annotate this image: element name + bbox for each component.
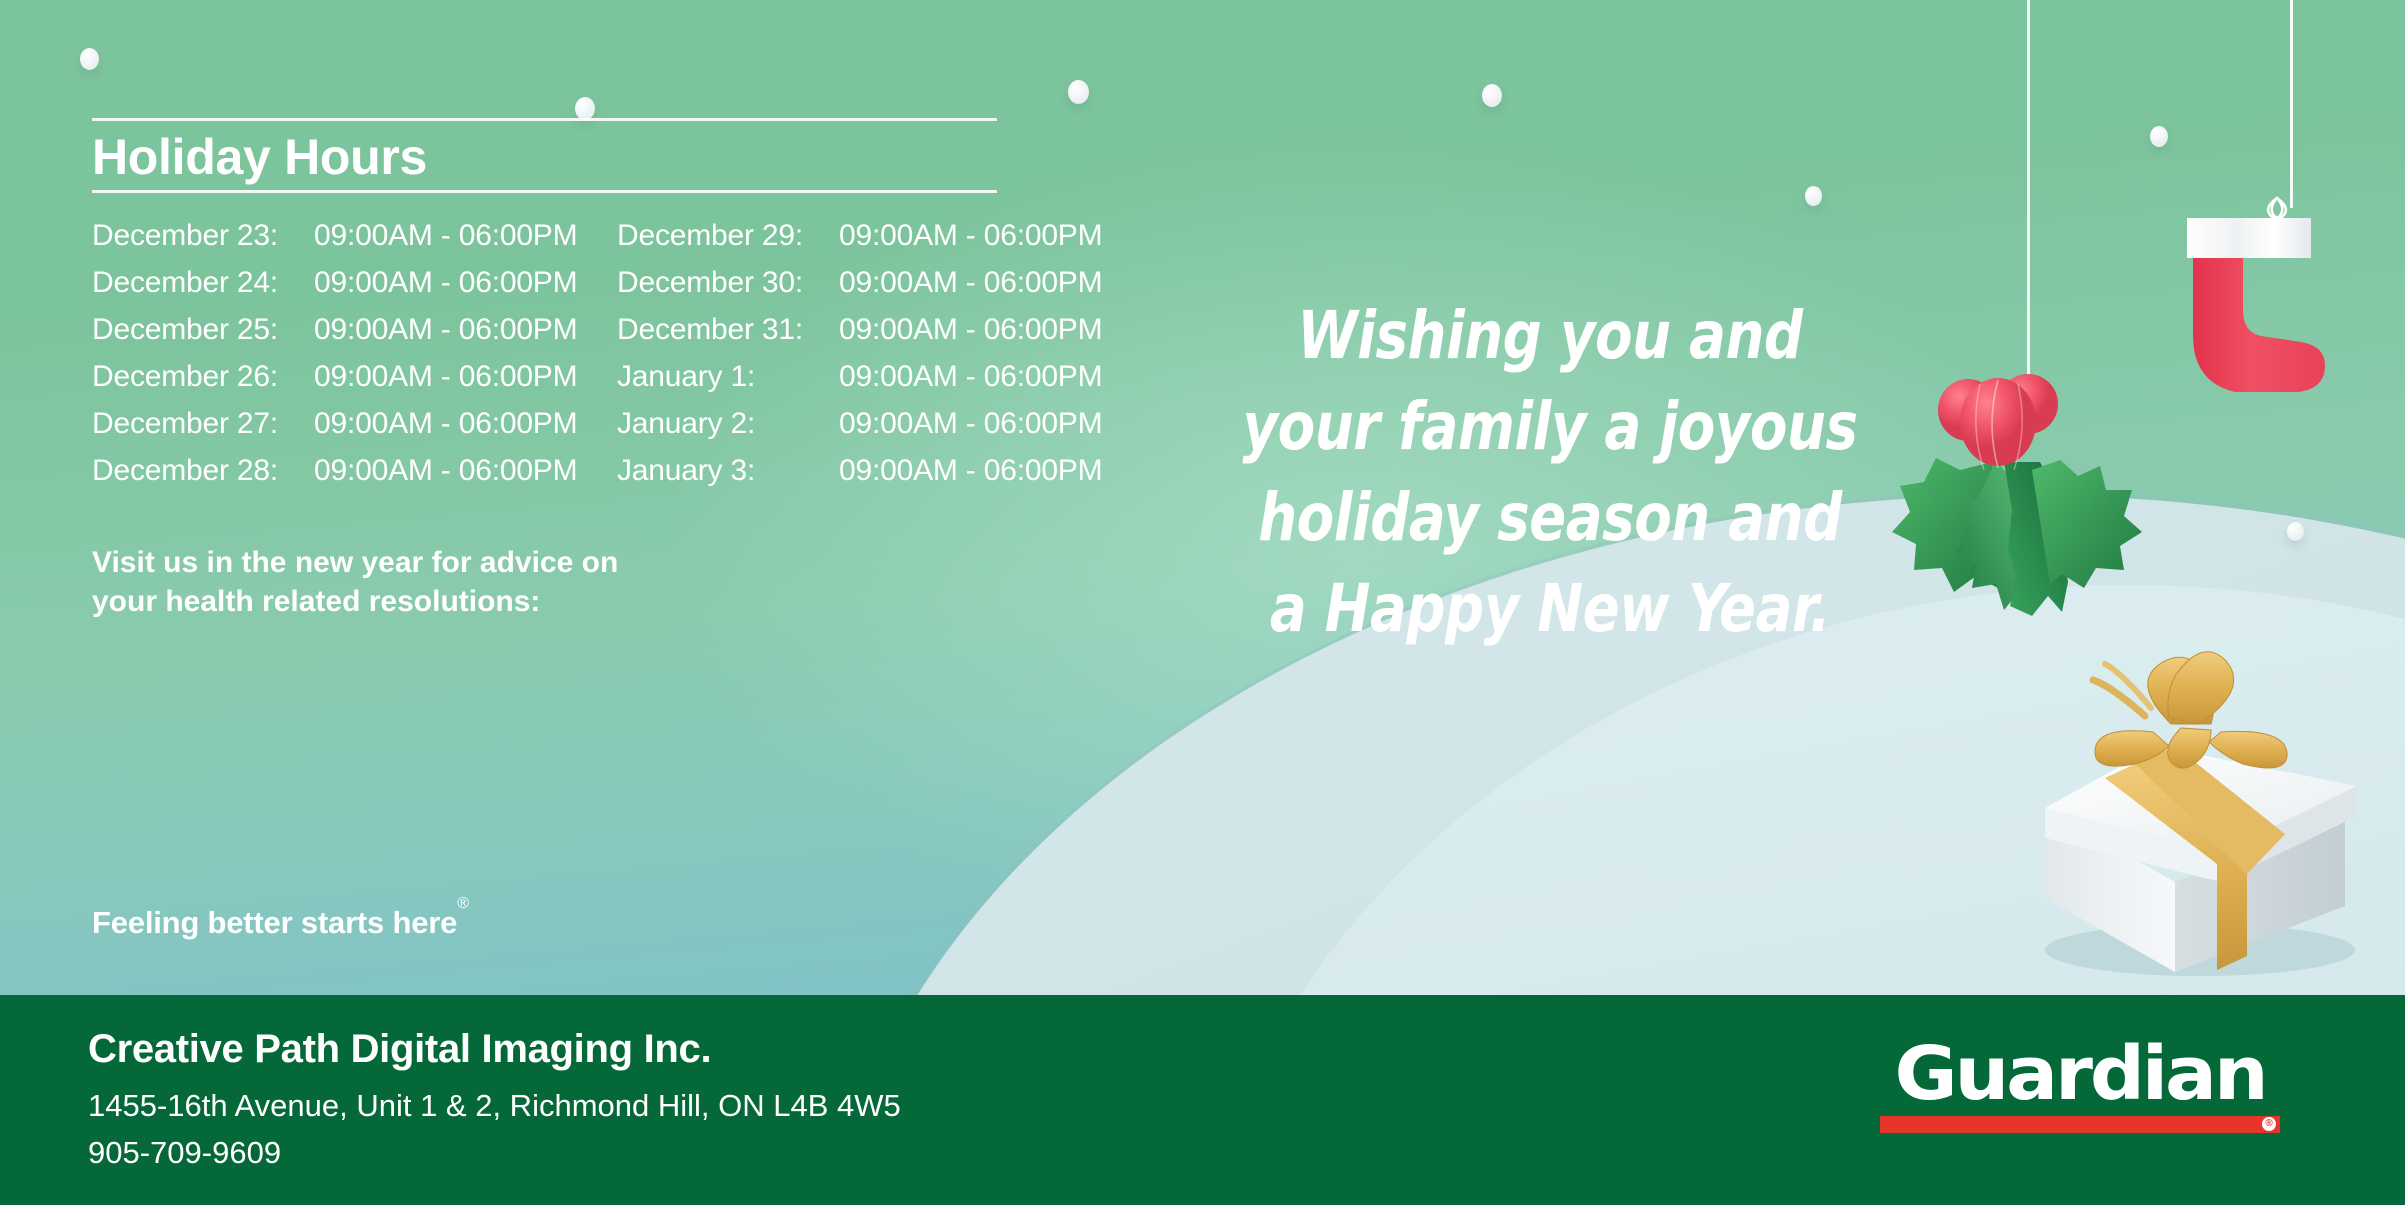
registered-mark: ® (457, 895, 469, 912)
hours-table: December 23: 09:00AM - 06:00PM December … (92, 219, 1122, 501)
hours-date: December 28: (92, 454, 314, 488)
hours-time: 09:00AM - 06:00PM (839, 407, 1102, 441)
hours-time: 09:00AM - 06:00PM (314, 360, 577, 394)
hours-date: December 29: (617, 219, 839, 253)
table-row: December 26: 09:00AM - 06:00PM (92, 360, 617, 407)
divider-bottom (92, 190, 997, 193)
hours-date: January 3: (617, 454, 839, 488)
holiday-greeting-card: Holiday Hours December 23: 09:00AM - 06:… (0, 0, 2405, 1205)
table-row: January 2: 09:00AM - 06:00PM (617, 407, 1122, 454)
visit-note: Visit us in the new year for advice on y… (92, 543, 792, 622)
snow-dot (1805, 186, 1822, 206)
table-row: January 3: 09:00AM - 06:00PM (617, 454, 1122, 501)
brand-tagline-text: Feeling better starts here (92, 905, 457, 940)
hours-time: 09:00AM - 06:00PM (839, 266, 1102, 300)
gift-box (1985, 620, 2385, 990)
hours-date: January 1: (617, 360, 839, 394)
hours-column-right: December 29: 09:00AM - 06:00PM December … (617, 219, 1122, 501)
business-phone: 905-709-9609 (88, 1135, 281, 1171)
greeting-message: Wishing you and your family a joyous hol… (1219, 290, 1881, 654)
hours-time: 09:00AM - 06:00PM (314, 407, 577, 441)
table-row: December 29: 09:00AM - 06:00PM (617, 219, 1122, 266)
table-row: December 24: 09:00AM - 06:00PM (92, 266, 617, 313)
hours-date: December 30: (617, 266, 839, 300)
greeting-line: Wishing you and (1219, 290, 1881, 381)
table-row: December 28: 09:00AM - 06:00PM (92, 454, 617, 501)
hours-time: 09:00AM - 06:00PM (314, 266, 577, 300)
hours-time: 09:00AM - 06:00PM (314, 454, 577, 488)
greeting-line: a Happy New Year. (1219, 563, 1881, 654)
holiday-hours-panel: Holiday Hours December 23: 09:00AM - 06:… (92, 118, 1122, 622)
table-row: December 31: 09:00AM - 06:00PM (617, 313, 1122, 360)
snow-dot (1068, 80, 1089, 104)
snow-dot (2287, 522, 2304, 541)
holly-ornament (1880, 330, 2200, 630)
registered-mark-icon: ® (2262, 1117, 2276, 1131)
visit-note-line2: your health related resolutions: (92, 582, 792, 622)
table-row: December 27: 09:00AM - 06:00PM (92, 407, 617, 454)
hours-time: 09:00AM - 06:00PM (839, 313, 1102, 347)
snow-dot (80, 48, 99, 70)
footer-bar: Creative Path Digital Imaging Inc. 1455-… (0, 995, 2405, 1205)
snow-dot (2150, 126, 2168, 147)
hours-date: December 23: (92, 219, 314, 253)
guardian-logo-bar: ® (1880, 1116, 2280, 1133)
hours-date: January 2: (617, 407, 839, 441)
hours-time: 09:00AM - 06:00PM (839, 360, 1102, 394)
hours-time: 09:00AM - 06:00PM (839, 219, 1102, 253)
hours-date: December 24: (92, 266, 314, 300)
business-address: 1455-16th Avenue, Unit 1 & 2, Richmond H… (88, 1088, 901, 1124)
hours-column-left: December 23: 09:00AM - 06:00PM December … (92, 219, 617, 501)
ornament-string (2290, 0, 2293, 208)
page-title: Holiday Hours (92, 121, 1122, 190)
hours-time: 09:00AM - 06:00PM (839, 454, 1102, 488)
hours-date: December 31: (617, 313, 839, 347)
business-name: Creative Path Digital Imaging Inc. (88, 1027, 711, 1072)
snow-dot (1482, 84, 1502, 107)
hours-date: December 25: (92, 313, 314, 347)
table-row: December 23: 09:00AM - 06:00PM (92, 219, 617, 266)
guardian-wordmark: Guardian (1872, 1039, 2288, 1109)
hours-date: December 27: (92, 407, 314, 441)
hours-time: 09:00AM - 06:00PM (314, 219, 577, 253)
greeting-line: holiday season and (1219, 472, 1881, 563)
snow-dot (575, 97, 595, 120)
table-row: December 30: 09:00AM - 06:00PM (617, 266, 1122, 313)
table-row: January 1: 09:00AM - 06:00PM (617, 360, 1122, 407)
greeting-line: your family a joyous (1219, 381, 1881, 472)
table-row: December 25: 09:00AM - 06:00PM (92, 313, 617, 360)
brand-tagline: Feeling better starts here® (92, 905, 469, 941)
visit-note-line1: Visit us in the new year for advice on (92, 543, 792, 583)
hours-time: 09:00AM - 06:00PM (314, 313, 577, 347)
guardian-logo: Guardian ® (1880, 1039, 2280, 1133)
hours-date: December 26: (92, 360, 314, 394)
